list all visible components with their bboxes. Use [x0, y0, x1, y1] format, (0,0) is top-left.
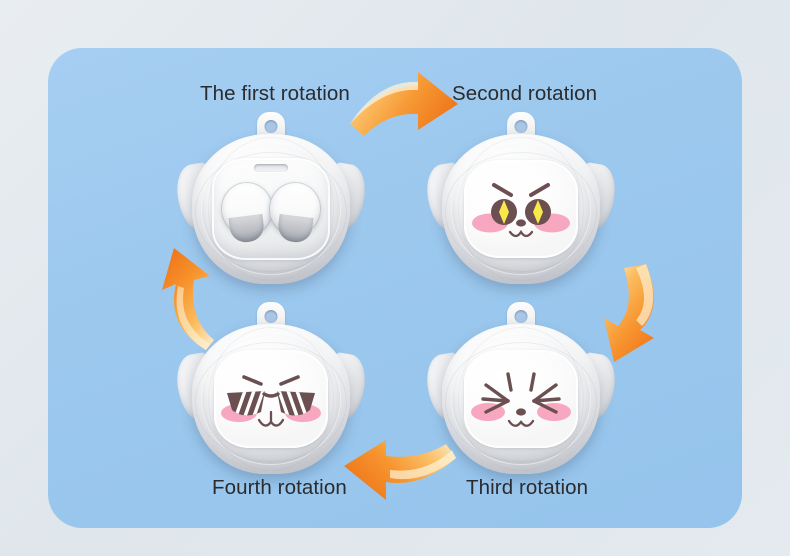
eyebrow-left-icon — [494, 185, 511, 195]
earbud-right-stem — [277, 214, 314, 244]
face-screen — [464, 350, 578, 448]
arrow-shape — [344, 440, 456, 500]
brow-right-icon — [531, 374, 534, 390]
nose-icon — [516, 219, 526, 226]
mouth-icon — [259, 420, 283, 426]
sunglasses-bridge-icon — [264, 394, 278, 396]
face-sparkle-star-eyes-icon — [464, 160, 578, 258]
caption-first-rotation: The first rotation — [200, 84, 350, 105]
arrow-second-to-third-icon — [588, 262, 672, 366]
face-screen — [214, 350, 328, 448]
arrow-shape — [162, 248, 214, 350]
earbud-left — [221, 182, 273, 244]
earbud-left-stem — [229, 214, 266, 244]
case-shell — [442, 324, 600, 474]
eyebrow-left-icon — [244, 377, 261, 384]
earbud-right — [269, 182, 321, 244]
arrow-fourth-to-first-icon — [132, 246, 216, 352]
nose-icon — [516, 408, 526, 415]
case-shell — [442, 134, 600, 284]
caption-second-rotation: Second rotation — [452, 84, 597, 105]
mouth-icon — [509, 421, 533, 426]
illustration-stage: The first rotation Second rotation Third… — [0, 0, 790, 556]
open-case-interior — [212, 158, 330, 260]
mouth-icon — [510, 232, 532, 236]
face-squinting-eyes-icon — [464, 350, 578, 448]
case-hinge-slot — [254, 164, 288, 172]
caption-fourth-rotation: Fourth rotation — [212, 478, 347, 499]
arrow-first-to-second-icon — [348, 68, 462, 144]
caption-third-rotation: Third rotation — [466, 478, 588, 499]
face-screen — [464, 160, 578, 258]
face-sunglasses-icon — [214, 350, 328, 448]
arrow-third-to-fourth-icon — [336, 438, 458, 508]
eyebrow-right-icon — [281, 377, 298, 384]
eyebrow-right-icon — [531, 185, 548, 195]
brow-left-icon — [508, 374, 511, 390]
